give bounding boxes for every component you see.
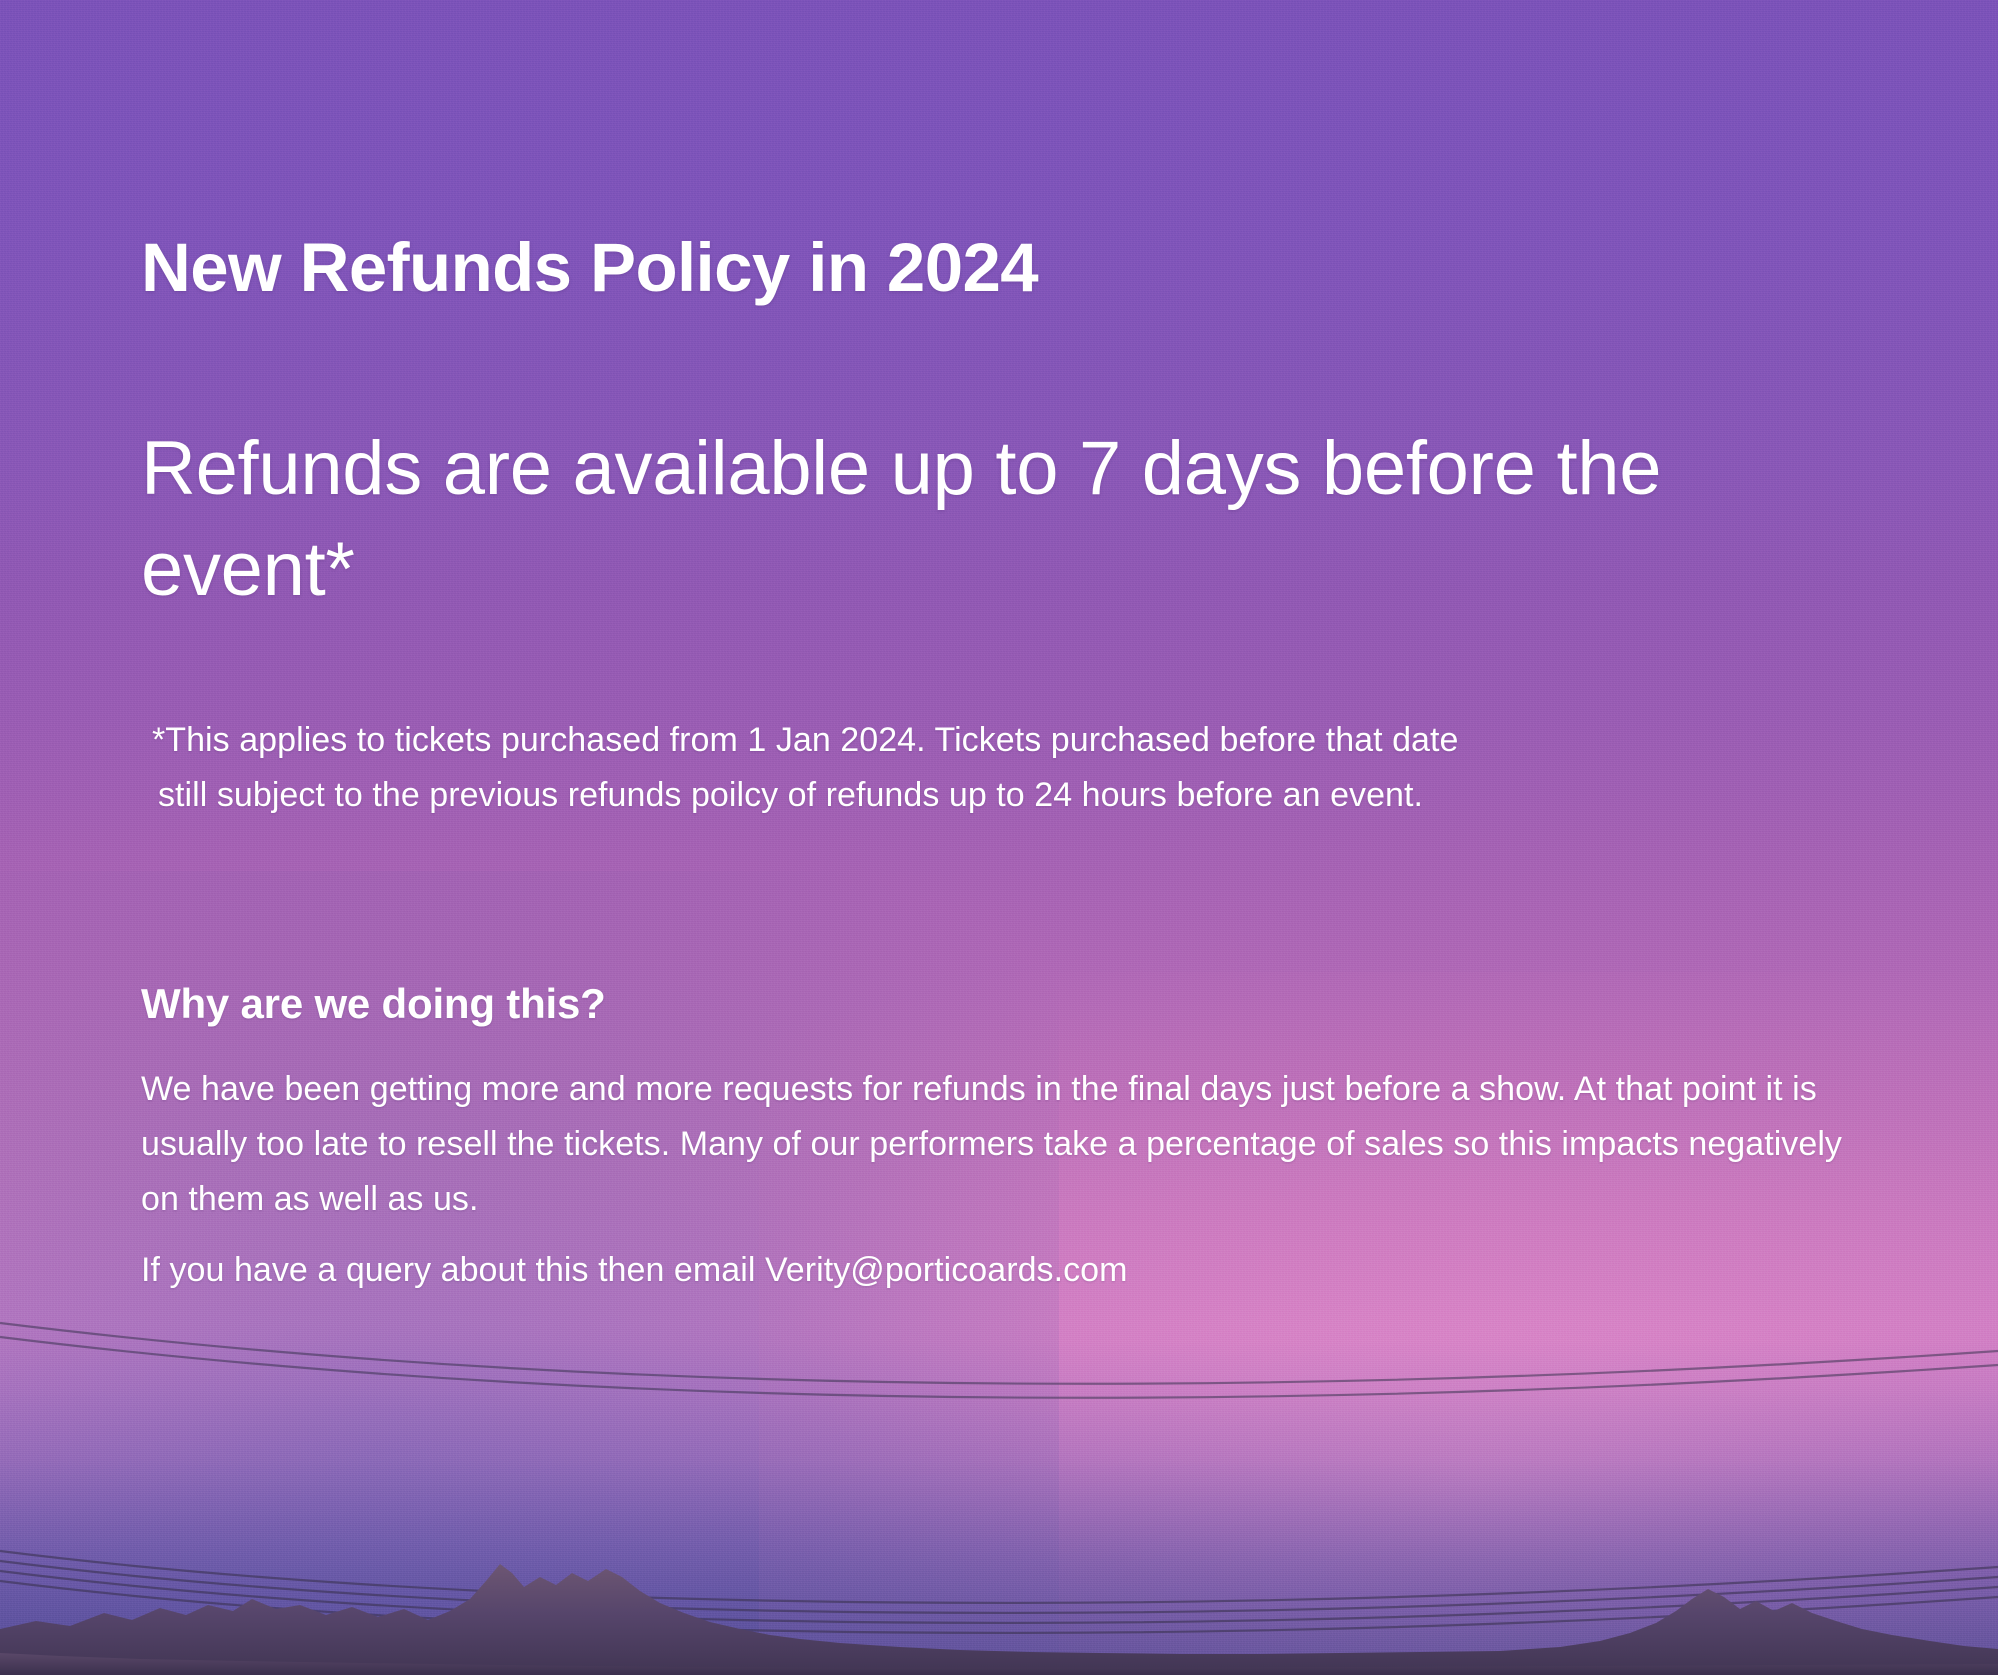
contact-prefix: If you have a query about this then emai…: [141, 1251, 765, 1289]
contact-line: If you have a query about this then emai…: [141, 1251, 1127, 1290]
poster-subtitle: Refunds are available up to 7 days befor…: [141, 418, 1671, 620]
refunds-policy-poster: New Refunds Policy in 2024 Refunds are a…: [0, 0, 1998, 1675]
section-heading-why: Why are we doing this?: [141, 980, 606, 1028]
section-body-why: We have been getting more and more reque…: [141, 1062, 1861, 1227]
poster-content: New Refunds Policy in 2024 Refunds are a…: [0, 0, 1998, 1675]
footnote-block: *This applies to tickets purchased from …: [152, 713, 1872, 823]
footnote-line-2: still subject to the previous refunds po…: [152, 768, 1872, 823]
contact-email: Verity@porticoards.com: [765, 1251, 1128, 1289]
footnote-line-1: *This applies to tickets purchased from …: [152, 721, 1458, 759]
page-title: New Refunds Policy in 2024: [141, 232, 1038, 304]
